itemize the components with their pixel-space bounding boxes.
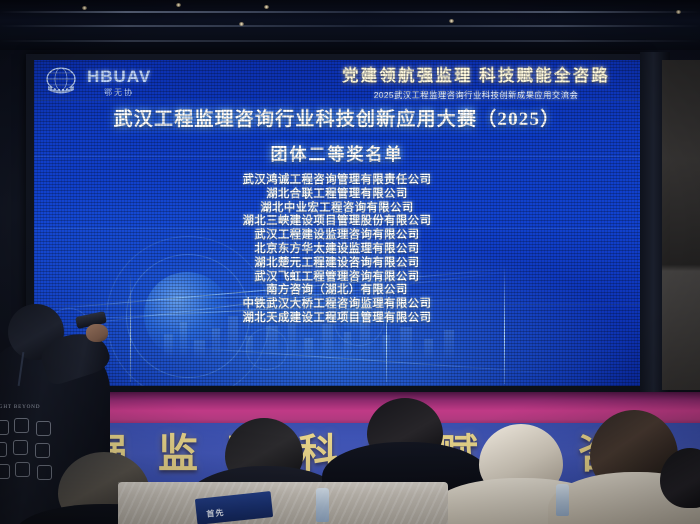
- ceiling-light: [176, 3, 181, 7]
- conference-photo-scene: HBUAV 鄂无协 党建领航强监理 科技赋能全咨路 2025武汉工程监理咨询行业…: [0, 0, 700, 524]
- winner-list-item: 武汉工程建设监理咨询有限公司: [34, 229, 640, 243]
- event-subtitle: 2025武汉工程监理咨询行业科技创新成果应用交流会: [326, 89, 626, 101]
- water-bottle: [556, 484, 569, 516]
- winner-list-item: 湖北三峡建设项目管理股份有限公司: [34, 215, 640, 229]
- award-category-title: 团体二等奖名单: [34, 140, 640, 165]
- logo-chinese-name: 鄂无协: [104, 87, 134, 98]
- winner-list-item: 湖北合联工程管理有限公司: [34, 188, 640, 202]
- ceiling-light: [239, 22, 244, 26]
- led-screen: HBUAV 鄂无协 党建领航强监理 科技赋能全咨路 2025武汉工程监理咨询行业…: [34, 60, 640, 386]
- competition-title: 武汉工程监理咨询行业科技创新应用大赛（2025）: [34, 104, 640, 131]
- photographer-hand: [86, 324, 108, 342]
- screen-header: 党建领航强监理 科技赋能全咨路 2025武汉工程监理咨询行业科技创新成果应用交流…: [326, 62, 626, 101]
- winner-list-item: 湖北楚元工程建设咨询有限公司: [34, 257, 640, 271]
- ceiling-light: [264, 5, 269, 9]
- winner-list-item: 武汉鸿诚工程咨询管理有限责任公司: [34, 174, 640, 188]
- logo-wordmark: HBUAV: [87, 68, 151, 85]
- winner-list-item: 北京东方华太建设监理有限公司: [34, 243, 640, 257]
- shirt-print-pattern: [0, 418, 58, 488]
- booklet-text: 首先: [206, 507, 225, 520]
- winner-list: 武汉鸿诚工程咨询管理有限责任公司湖北合联工程管理有限公司湖北中业宏工程咨询有限公…: [34, 174, 640, 326]
- winner-list-item: 武汉飞虹工程管理咨询有限公司: [34, 271, 640, 285]
- ceiling-light: [449, 19, 454, 23]
- conference-table: [118, 482, 448, 524]
- globe-emblem-icon: [42, 66, 80, 100]
- event-slogan: 党建领航强监理 科技赋能全咨路: [326, 62, 626, 86]
- winner-list-item: 南方咨询（湖北）有限公司: [34, 284, 640, 298]
- shirt-print-text: RIGHT BEYOND: [0, 404, 40, 410]
- gold-char: 监: [158, 434, 198, 474]
- screen-body: 武汉工程监理咨询行业科技创新应用大赛（2025） 团体二等奖名单 武汉鸿诚工程咨…: [34, 104, 640, 326]
- ceiling-rail: [0, 40, 700, 42]
- water-bottle: [316, 488, 329, 522]
- winner-list-item: 湖北天成建设工程项目管理有限公司: [34, 312, 640, 326]
- ceiling-light: [676, 10, 681, 14]
- wall-panel: [662, 60, 700, 390]
- ceiling-rail: [0, 25, 700, 27]
- winner-list-item: 湖北中业宏工程咨询有限公司: [34, 202, 640, 216]
- organization-logo: HBUAV 鄂无协: [42, 66, 151, 100]
- winner-list-item: 中铁武汉大桥工程咨询监理有限公司: [34, 298, 640, 312]
- ceiling-light: [82, 6, 87, 10]
- ceiling-rail: [0, 11, 700, 13]
